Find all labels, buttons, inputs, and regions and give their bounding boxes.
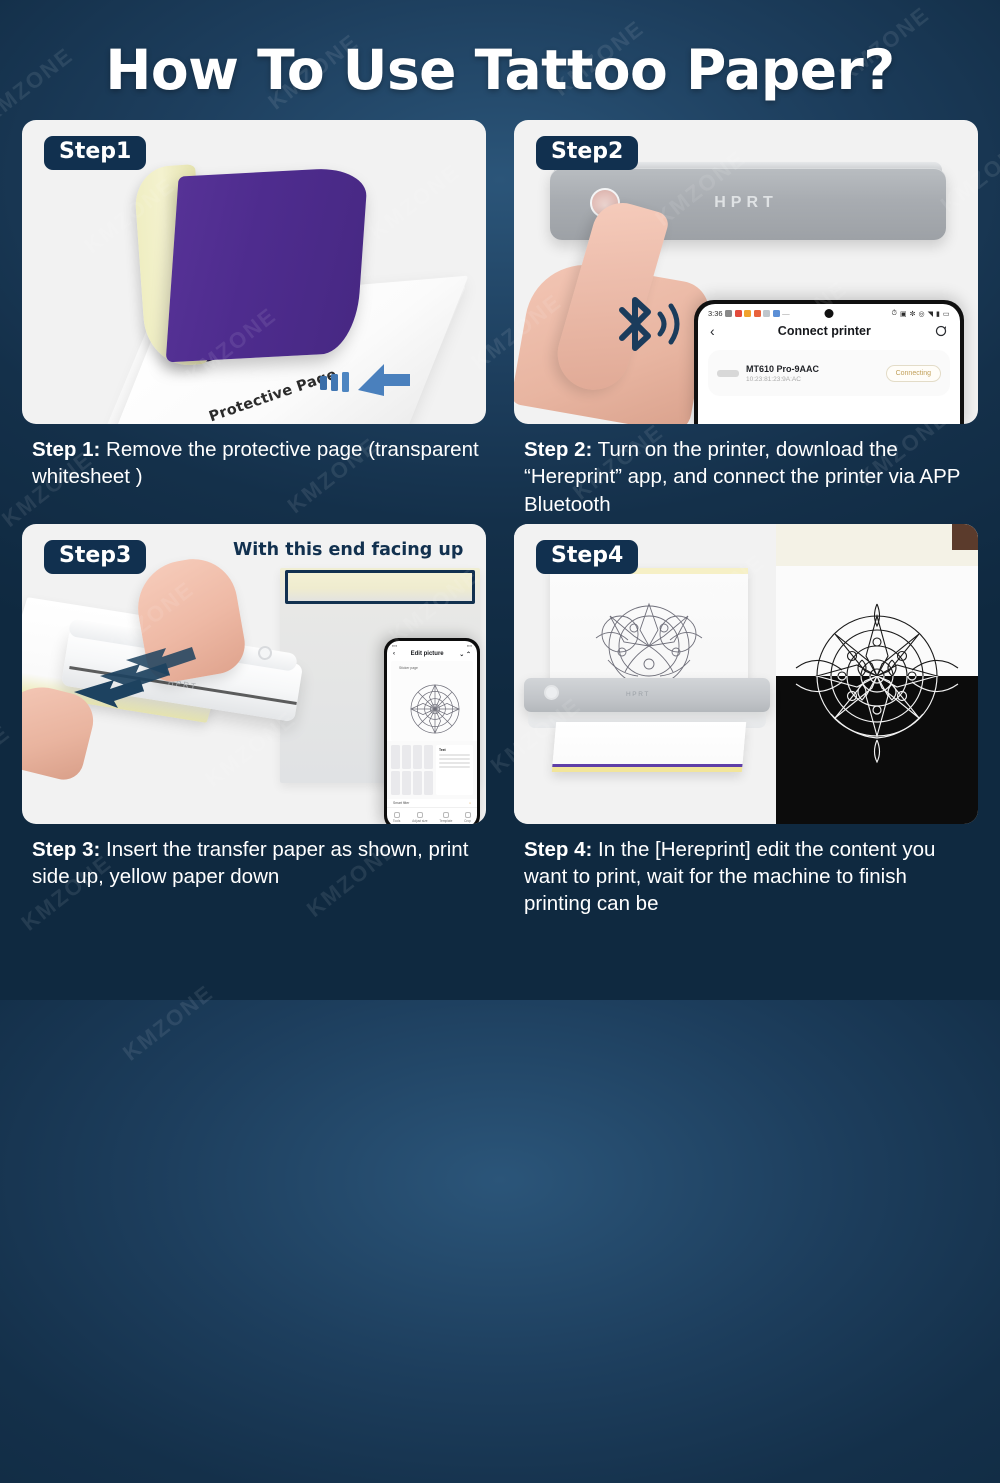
phone-camera-notch (825, 309, 834, 318)
filter-toggle-icon[interactable]: ◗ (469, 801, 471, 805)
status-icon-1 (725, 310, 732, 317)
printer-brand-label-4: HPRT (626, 691, 650, 698)
status-icon-7: — (782, 309, 790, 318)
status-location-icon: ◎ (919, 310, 926, 318)
status-left-3: ▪▪▪▪ (392, 644, 397, 648)
tab-adjust-size[interactable]: Adjust size (412, 812, 427, 824)
template-icon (443, 812, 449, 818)
status-time: 3:36 (708, 309, 723, 318)
step-badge-4: Step4 (536, 540, 638, 574)
step-caption-label-2: Step 2: (524, 438, 592, 461)
output-paper (552, 722, 746, 772)
printer-device-row[interactable]: MT610 Pro-9AAC 10:23:81:23:9A:AC Connect… (708, 350, 950, 396)
tab-crop[interactable]: Crop (464, 812, 471, 824)
smart-filter-label: Smart filter (393, 801, 409, 805)
tab-label: Adjust size (412, 819, 427, 823)
status-right-3: ▪▪▪▪ (467, 644, 472, 648)
step-caption-4: Step 4: In the [Hereprint] edit the cont… (514, 824, 978, 918)
phone-device-3: ▪▪▪▪ ▪▪▪▪ ‹ Edit picture ⌄ ⌃ Sticker pag… (384, 638, 480, 824)
step-badge-3: Step3 (44, 540, 146, 574)
text-panel-title: Text (439, 748, 470, 752)
highlight-box (285, 570, 475, 604)
step-cell-2: Step2 HPRT 3:36 (514, 120, 978, 518)
status-bluetooth-icon: ✼ (910, 310, 916, 318)
text-line (439, 754, 470, 756)
device-mac: 10:23:81:23:9A:AC (746, 376, 879, 383)
status-icon-3 (744, 310, 751, 317)
status-signal-icon: ▮ (936, 310, 940, 318)
step-caption-label-4: Step 4: (524, 838, 592, 861)
status-battery-icon: ▭ (943, 310, 950, 318)
step-caption-3: Step 3: Insert the transfer paper as sho… (22, 824, 486, 891)
status-alarm-icon: ⏱ (892, 310, 898, 318)
device-name: MT610 Pro-9AAC (746, 364, 879, 374)
thumbnail[interactable] (391, 745, 400, 769)
floral-line-art-icon (550, 568, 748, 684)
step-badge-1: Step1 (44, 136, 146, 170)
phone-app-header: ‹ Connect printer (698, 320, 960, 344)
editor-tab-bar[interactable]: Tools Adjust size Template (387, 807, 477, 824)
step-badge-2: Step2 (536, 136, 638, 170)
refresh-icon[interactable] (934, 324, 948, 338)
step-panel-1: Step1 Protective Page (22, 120, 486, 424)
printer-power-button-4[interactable] (544, 685, 559, 700)
phone-screen-3: ▪▪▪▪ ▪▪▪▪ ‹ Edit picture ⌄ ⌃ Sticker pag… (387, 641, 477, 824)
text-line (439, 766, 470, 768)
step-cell-4: Step4 (514, 524, 978, 918)
mandala-preview-icon (399, 673, 471, 745)
page-title: How To Use Tattoo Paper? (0, 0, 1000, 102)
step-cell-1: Step1 Protective Page (22, 120, 486, 518)
back-button[interactable]: ‹ (710, 324, 715, 338)
facing-up-headline: With this end facing up (233, 540, 463, 560)
canvas-label: Sticker page (399, 666, 418, 670)
adjust-size-icon (417, 812, 423, 818)
crop-icon (465, 812, 471, 818)
phone-status-bar-3: ▪▪▪▪ ▪▪▪▪ (387, 641, 477, 649)
status-icon-4 (754, 310, 761, 317)
peel-direction-arrow-icon (318, 356, 414, 414)
phone-device: 3:36 — ⏱ ▣ (694, 300, 964, 424)
step-caption-1: Step 1: Remove the protective page (tran… (22, 424, 486, 491)
thumbnail[interactable] (413, 771, 422, 795)
app-title-3: Edit picture (411, 651, 444, 657)
text-line (439, 762, 470, 764)
status-icon-5 (763, 310, 770, 317)
thumbnail[interactable] (424, 771, 433, 795)
edit-canvas[interactable]: Sticker page (391, 661, 473, 741)
insert-direction-arrows-icon (74, 646, 224, 718)
connecting-status-badge[interactable]: Connecting (886, 365, 941, 382)
template-thumbnails[interactable] (391, 745, 433, 795)
status-right-icons: ⏱ ▣ ✼ ◎ ◥ ▮ ▭ (892, 310, 950, 318)
status-icon-2 (735, 310, 742, 317)
background-corner (952, 524, 978, 550)
printed-document (550, 568, 748, 684)
editor-toolbar[interactable]: Text (387, 741, 477, 799)
tab-template[interactable]: Template (439, 812, 452, 824)
step-panel-3: Step3 With this end facing up HPRT (22, 524, 486, 824)
thumbnail[interactable] (391, 771, 400, 795)
mandala-tattoo-on-skin-icon (776, 564, 978, 764)
device-info: MT610 Pro-9AAC 10:23:81:23:9A:AC (746, 364, 879, 383)
thumbnail[interactable] (413, 745, 422, 769)
step-caption-label-1: Step 1: (32, 438, 100, 461)
header-actions-3[interactable]: ⌄ ⌃ (459, 651, 471, 658)
infographic-page: How To Use Tattoo Paper? Step1 Protectiv… (0, 0, 1000, 1000)
purple-protective-page (166, 167, 369, 363)
phone-app-header-3: ‹ Edit picture ⌄ ⌃ (387, 649, 477, 661)
phone-screen: 3:36 — ⏱ ▣ (698, 304, 960, 424)
printer-brand-label: HPRT (714, 194, 778, 212)
step-panel-2: Step2 HPRT 3:36 (514, 120, 978, 424)
tools-icon (394, 812, 400, 818)
tab-label: Tools (393, 819, 400, 823)
text-panel[interactable]: Text (436, 745, 473, 795)
result-scene (776, 524, 978, 824)
tab-tools[interactable]: Tools (393, 812, 400, 824)
step-cell-3: Step3 With this end facing up HPRT (22, 524, 486, 918)
step-panel-4: Step4 (514, 524, 978, 824)
thumbnail[interactable] (402, 745, 411, 769)
app-title: Connect printer (778, 324, 871, 338)
status-wifi-icon: ◥ (928, 310, 934, 318)
tab-label: Template (439, 819, 452, 823)
step-caption-label-3: Step 3: (32, 838, 100, 861)
smart-filter-row[interactable]: Smart filter ◗ (387, 799, 477, 807)
tab-label: Crop (464, 819, 471, 823)
bluetooth-signal-icon (610, 290, 684, 372)
status-icon-6 (773, 310, 780, 317)
status-nfc-icon: ▣ (900, 310, 907, 318)
back-button-3[interactable]: ‹ (393, 651, 395, 657)
printer-thumb-icon (717, 370, 739, 377)
text-line (439, 758, 470, 760)
thumbnail[interactable] (402, 771, 411, 795)
thumbnail[interactable] (424, 745, 433, 769)
step-caption-2: Step 2: Turn on the printer, download th… (514, 424, 978, 518)
steps-grid: Step1 Protective Page (22, 120, 978, 918)
